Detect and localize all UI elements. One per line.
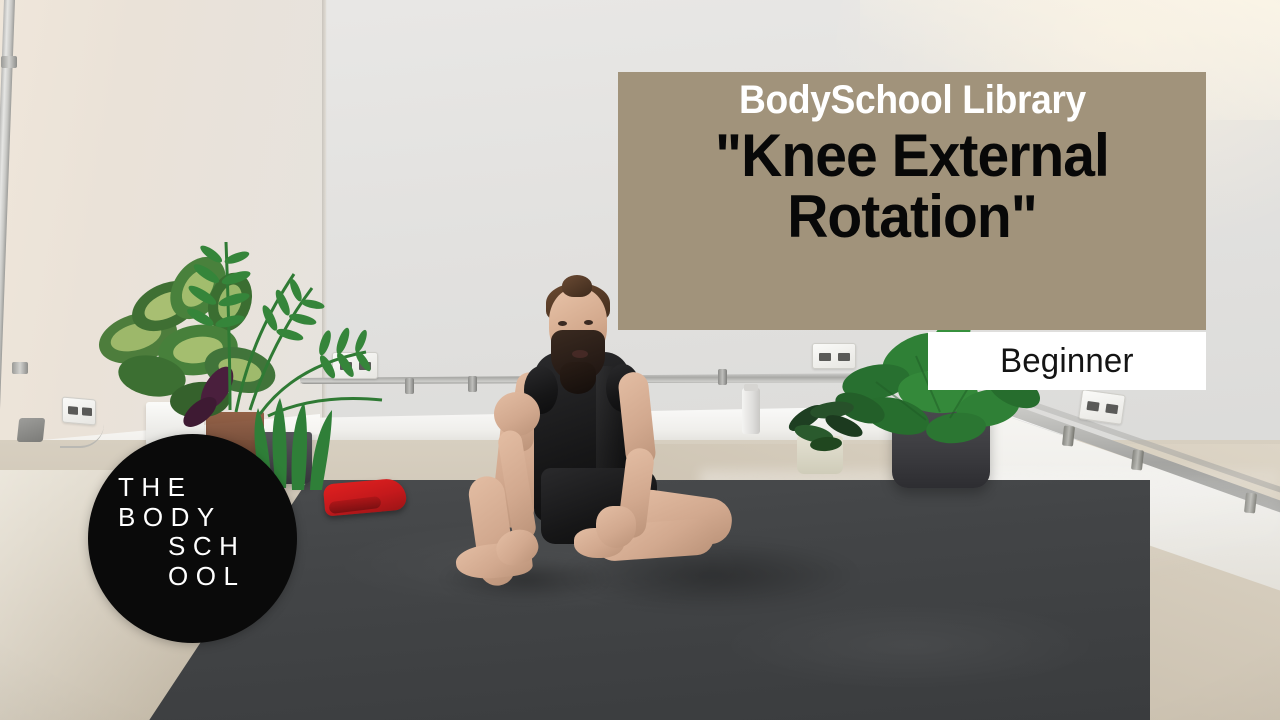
logo-line-3: SCH	[168, 533, 278, 561]
potted-plant-right-small	[770, 392, 880, 462]
difficulty-badge: Beginner	[928, 332, 1206, 390]
pole-clamp	[12, 362, 28, 374]
logo-line-2: BODY	[118, 504, 278, 532]
video-frame: BodySchool Library "Knee External Rotati…	[0, 0, 1280, 720]
title-card-banner: BodySchool Library "Knee External Rotati…	[618, 72, 1206, 330]
barre-bracket	[1131, 449, 1144, 470]
left-eye	[558, 321, 567, 326]
brand-logo: THE BODY SCH OOL	[88, 434, 297, 643]
right-eye	[584, 320, 593, 325]
mat-texture	[720, 600, 1100, 690]
exercise-title: "Knee External Rotation"	[633, 125, 1192, 247]
left-knee	[494, 392, 540, 436]
logo-line-4: OOL	[168, 563, 278, 591]
pole-clamp	[1, 56, 17, 68]
right-hand	[596, 506, 636, 548]
logo-line-1: THE	[118, 474, 278, 502]
brand-logo-text: THE BODY SCH OOL	[118, 474, 278, 609]
water-bottle	[742, 388, 760, 434]
beard-lower	[560, 362, 596, 394]
pole-foot	[17, 418, 46, 442]
hair-bun	[562, 275, 592, 297]
mouth	[572, 350, 588, 358]
library-subtitle: BodySchool Library	[739, 78, 1086, 123]
difficulty-badge-label: Beginner	[1000, 342, 1134, 381]
barre-bracket	[718, 369, 727, 385]
barre-bracket	[468, 376, 477, 392]
bottle-cap	[744, 384, 758, 391]
